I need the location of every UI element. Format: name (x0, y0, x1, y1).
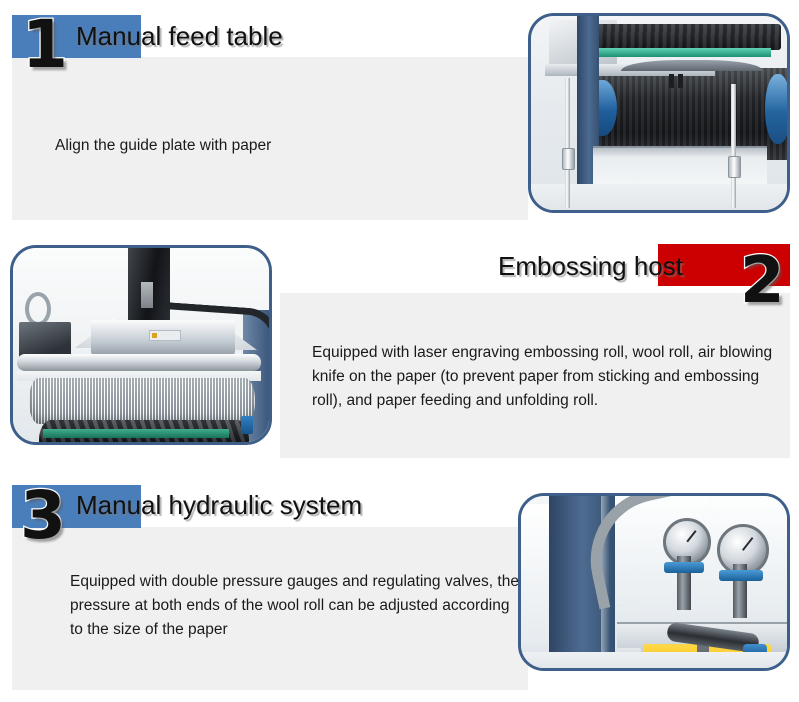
section-manual-hydraulic-system: 3 Manual hydraulic system Equipped with … (0, 470, 799, 702)
section-embossing-host: 2 Embossing host Equipped with laser eng… (0, 235, 799, 460)
section-2-number: 2 (740, 249, 784, 313)
section-manual-feed-table: 1 Manual feed table Align the guide plat… (0, 0, 799, 228)
section-2-photo (10, 245, 272, 445)
section-1-number: 1 (22, 12, 67, 78)
section-2-body: Equipped with laser engraving embossing … (312, 341, 782, 413)
section-2-title: Embossing host (498, 251, 683, 282)
section-1-body: Align the guide plate with paper (55, 134, 475, 158)
section-1-title: Manual feed table (76, 21, 283, 52)
section-3-number: 3 (20, 483, 65, 549)
section-3-title: Manual hydraulic system (76, 490, 362, 521)
section-1-photo (528, 13, 790, 213)
section-3-body: Equipped with double pressure gauges and… (70, 570, 520, 642)
section-3-photo (518, 493, 790, 671)
